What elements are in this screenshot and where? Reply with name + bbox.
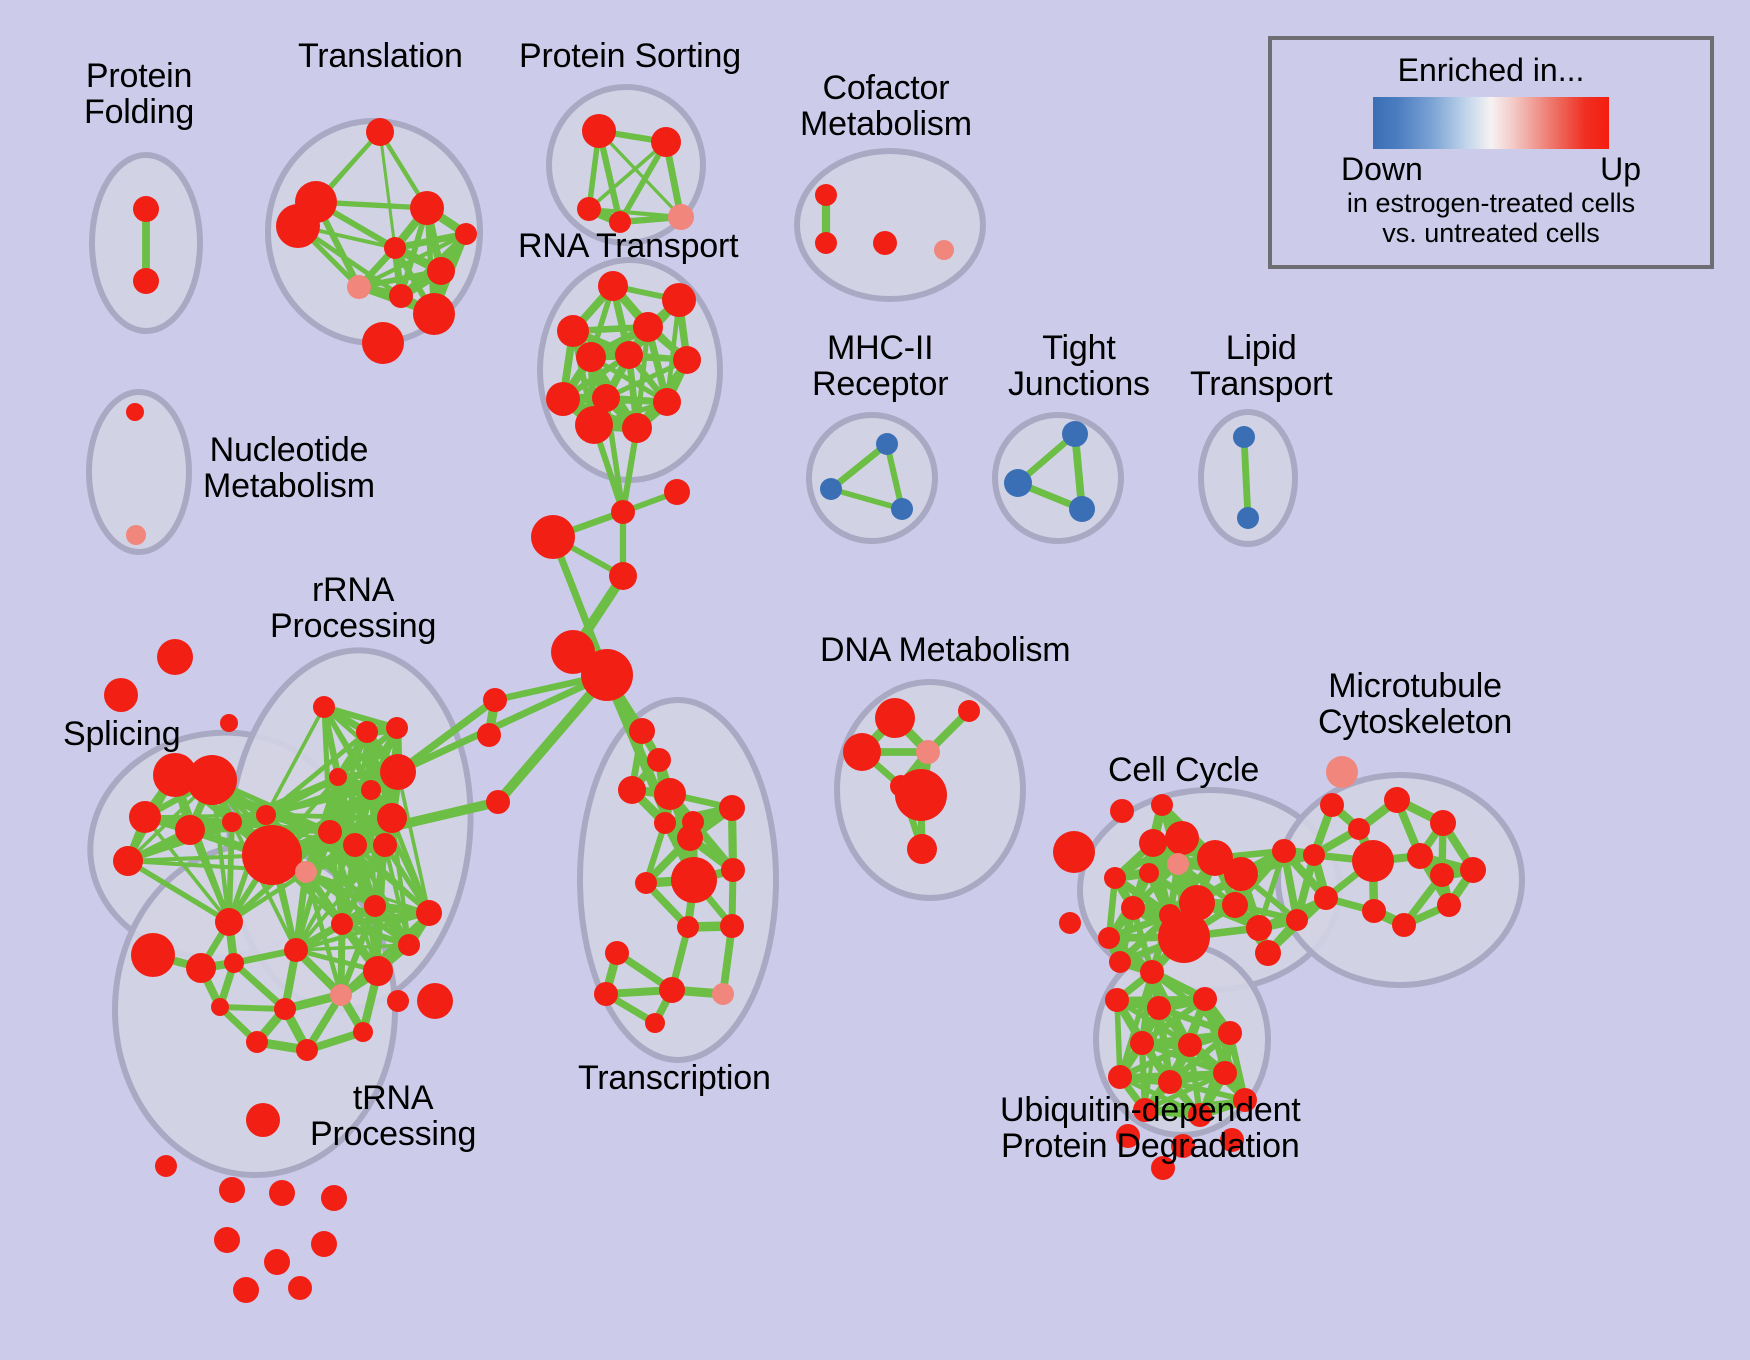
gene-set-node[interactable] [622,413,652,443]
gene-set-node[interactable] [1314,886,1338,910]
gene-set-node[interactable] [256,805,276,825]
gene-set-node[interactable] [224,953,244,973]
gene-set-node[interactable] [377,803,407,833]
gene-set-node[interactable] [356,721,378,743]
gene-set-node[interactable] [1437,893,1461,917]
gene-set-node[interactable] [364,895,386,917]
gene-set-node[interactable] [1237,507,1259,529]
gene-set-node[interactable] [126,525,146,545]
gene-set-node[interactable] [410,191,444,225]
gene-set-node[interactable] [1233,426,1255,448]
gene-set-node[interactable] [1218,1021,1242,1045]
cluster-label-transcription: Transcription [578,1060,771,1096]
gene-set-node[interactable] [820,478,842,500]
gene-set-node[interactable] [594,982,618,1006]
gene-set-node[interactable] [916,740,940,764]
cluster-label-rna-transport: RNA Transport [518,228,738,264]
gene-set-node[interactable] [387,990,409,1012]
gene-set-node[interactable] [363,956,393,986]
gene-set-node[interactable] [131,933,175,977]
gene-set-node[interactable] [1430,863,1454,887]
gene-set-node[interactable] [651,127,681,157]
gene-set-node[interactable] [671,857,717,903]
cluster-label-dna-metabolism: DNA Metabolism [820,632,1070,668]
gene-set-node[interactable] [876,433,898,455]
gene-set-node[interactable] [331,913,353,935]
gene-set-node[interactable] [673,346,701,374]
gene-set-node[interactable] [1286,909,1308,931]
gene-set-node[interactable] [720,914,744,938]
gene-set-node[interactable] [1165,821,1199,855]
gene-set-node[interactable] [1320,793,1344,817]
gene-set-node[interactable] [653,388,681,416]
gene-set-node[interactable] [269,1180,295,1206]
gene-set-node[interactable] [483,688,507,712]
cluster-label-rrna-processing: rRNA Processing [270,572,436,644]
gene-set-node[interactable] [242,825,302,885]
gene-set-node[interactable] [635,872,657,894]
gene-set-node[interactable] [477,723,501,747]
enrichment-map-figure: Protein FoldingTranslationProtein Sortin… [0,0,1750,1360]
gene-set-node[interactable] [1147,996,1171,1020]
gene-set-node[interactable] [611,500,635,524]
gene-set-node[interactable] [361,780,381,800]
cluster-label-trna-processing: tRNA Processing [310,1080,476,1152]
gene-set-node[interactable] [389,284,413,308]
gene-set-node[interactable] [219,1177,245,1203]
gene-set-node[interactable] [329,768,347,786]
legend-down-label: Down [1341,151,1423,188]
gene-set-node[interactable] [129,801,161,833]
legend-panel: Enriched in... Down Up in estrogen-treat… [1268,36,1714,269]
gene-set-node[interactable] [1392,913,1416,937]
gene-set-node[interactable] [712,983,734,1005]
gene-set-node[interactable] [211,998,229,1016]
gene-set-node[interactable] [958,700,980,722]
gene-set-node[interactable] [629,718,655,744]
gene-set-node[interactable] [618,776,646,804]
gene-set-node[interactable] [1053,831,1095,873]
gene-set-node[interactable] [633,312,663,342]
gene-set-node[interactable] [934,240,954,260]
gene-set-node[interactable] [598,271,628,301]
gene-set-node[interactable] [1151,794,1173,816]
legend-title: Enriched in... [1398,52,1585,89]
gene-set-node[interactable] [1352,840,1394,882]
gene-set-node[interactable] [575,406,613,444]
cluster-label-translation: Translation [298,38,463,74]
gene-set-node[interactable] [246,1103,280,1137]
cluster-label-cell-cycle: Cell Cycle [1108,752,1259,788]
gene-set-node[interactable] [1303,844,1325,866]
gene-set-node[interactable] [416,900,442,926]
gene-set-node[interactable] [1407,843,1433,869]
cluster-label-ubiquitin-protein-degradation: Ubiquitin-dependent Protein Degradation [1000,1092,1301,1164]
gene-set-node[interactable] [815,232,837,254]
gene-set-node[interactable] [654,812,676,834]
gene-set-node[interactable] [1105,988,1129,1012]
gene-set-node[interactable] [1108,1065,1132,1089]
gene-set-node[interactable] [664,479,690,505]
cluster-label-cofactor-metabolism: Cofactor Metabolism [800,70,972,142]
cluster-label-protein-folding: Protein Folding [84,58,194,130]
gene-set-node[interactable] [647,748,671,772]
gene-set-node[interactable] [427,257,455,285]
gene-set-node[interactable] [186,953,216,983]
gene-set-node[interactable] [581,649,633,701]
gene-set-node[interactable] [891,498,913,520]
gene-set-node[interactable] [175,815,205,845]
gene-set-node[interactable] [1109,951,1131,973]
gene-set-node[interactable] [719,795,745,821]
gene-set-node[interactable] [576,342,606,372]
gene-set-node[interactable] [413,293,455,335]
gene-set-node[interactable] [366,118,394,146]
gene-set-node[interactable] [1272,839,1296,863]
gene-set-node[interactable] [155,1155,177,1177]
gene-set-node[interactable] [1130,1031,1154,1055]
gene-set-node[interactable] [1460,857,1486,883]
gene-set-node[interactable] [113,846,143,876]
gene-set-node[interactable] [721,858,745,882]
gene-set-node[interactable] [417,983,453,1019]
gene-set-node[interactable] [1246,915,1272,941]
gene-set-node[interactable] [1224,857,1258,891]
gene-set-node[interactable] [373,833,397,857]
gene-set-node[interactable] [557,315,589,347]
gene-set-node[interactable] [654,778,686,810]
gene-set-node[interactable] [907,834,937,864]
gene-set-node[interactable] [615,341,643,369]
gene-set-node[interactable] [347,275,371,299]
gene-set-node[interactable] [330,984,352,1006]
gene-set-node[interactable] [1098,927,1120,949]
gene-set-node[interactable] [133,196,159,222]
gene-set-node[interactable] [321,1185,347,1211]
gene-set-node[interactable] [662,283,696,317]
gene-set-node[interactable] [659,977,685,1003]
gene-set-node[interactable] [1139,829,1167,857]
gene-set-node[interactable] [1110,799,1134,823]
gene-set-node[interactable] [1069,496,1095,522]
gene-set-node[interactable] [233,1277,259,1303]
gene-set-node[interactable] [311,1231,337,1257]
gene-set-node[interactable] [1139,863,1159,883]
gene-set-node[interactable] [1062,421,1088,447]
gene-set-node[interactable] [288,1276,312,1300]
gene-set-node[interactable] [609,562,637,590]
gene-set-node[interactable] [274,998,296,1020]
gene-set-node[interactable] [296,1039,318,1061]
gene-set-node[interactable] [295,861,317,883]
cluster-label-lipid-transport: Lipid Transport [1190,330,1332,402]
gene-set-node[interactable] [1104,867,1126,889]
cluster-label-splicing: Splicing [63,716,180,752]
gene-set-node[interactable] [215,908,243,936]
gene-set-node[interactable] [343,833,367,857]
cluster-label-protein-sorting: Protein Sorting [519,38,741,74]
gene-set-node[interactable] [1004,469,1032,497]
gene-set-node[interactable] [1158,911,1210,963]
edge [266,815,392,818]
edge [1244,437,1248,518]
gene-set-node[interactable] [133,268,159,294]
gene-set-node[interactable] [582,114,616,148]
gene-set-node[interactable] [1326,756,1358,788]
gene-set-node[interactable] [264,1249,290,1275]
gene-set-node[interactable] [246,1031,268,1053]
gene-set-node[interactable] [577,197,601,221]
gene-set-node[interactable] [284,938,308,962]
gene-set-node[interactable] [1213,1061,1237,1085]
gene-set-node[interactable] [313,696,335,718]
gene-set-node[interactable] [645,1013,665,1033]
gene-set-node[interactable] [895,769,947,821]
gene-set-node[interactable] [815,184,837,206]
gene-set-node[interactable] [386,717,408,739]
gene-set-node[interactable] [1222,892,1248,918]
gene-set-node[interactable] [380,754,416,790]
gene-set-node[interactable] [126,403,144,421]
cluster-label-mhc-ii-receptor: MHC-II Receptor [812,330,948,402]
legend-up-label: Up [1600,151,1641,188]
legend-subtitle-line-2: vs. untreated cells [1382,218,1600,248]
gene-set-node[interactable] [1059,912,1081,934]
gene-set-node[interactable] [1140,960,1164,984]
gene-set-node[interactable] [875,698,915,738]
gene-set-node[interactable] [677,916,699,938]
gene-set-node[interactable] [605,941,629,965]
gene-set-node[interactable] [1384,787,1410,813]
gene-set-node[interactable] [1430,810,1456,836]
gene-set-node[interactable] [222,812,242,832]
gene-set-node[interactable] [1362,899,1386,923]
gene-set-node[interactable] [318,820,342,844]
color-scale-gradient [1373,97,1609,149]
gene-set-node[interactable] [546,382,580,416]
gene-set-node[interactable] [1178,1033,1202,1057]
gene-set-node[interactable] [1255,940,1281,966]
gene-set-node[interactable] [187,755,237,805]
legend-subtitle-line-1: in estrogen-treated cells [1347,188,1635,218]
cluster-label-nucleotide-metabolism: Nucleotide Metabolism [203,432,375,504]
gene-set-node[interactable] [1348,818,1370,840]
gene-set-node[interactable] [1167,853,1189,875]
cluster-label-microtubule-cytoskeleton: Microtubule Cytoskeleton [1318,668,1512,740]
gene-set-node[interactable] [873,231,897,255]
gene-set-node[interactable] [455,223,477,245]
gene-set-node[interactable] [104,678,138,712]
gene-set-node[interactable] [531,515,575,559]
gene-set-node[interactable] [157,639,193,675]
gene-set-node[interactable] [353,1022,373,1042]
legend-endpoints: Down Up [1341,151,1641,188]
gene-set-node[interactable] [677,825,703,851]
gene-set-node[interactable] [214,1227,240,1253]
gene-set-node[interactable] [1121,896,1145,920]
gene-set-node[interactable] [843,733,881,771]
gene-set-node[interactable] [220,714,238,732]
gene-set-node[interactable] [1193,987,1217,1011]
gene-set-node[interactable] [362,322,404,364]
gene-set-node[interactable] [398,934,420,956]
cluster-label-tight-junctions: Tight Junctions [1008,330,1150,402]
gene-set-node[interactable] [384,237,406,259]
gene-set-node[interactable] [276,204,320,248]
cluster-hull-mhc-ii-receptor [809,415,935,541]
gene-set-node[interactable] [486,790,510,814]
